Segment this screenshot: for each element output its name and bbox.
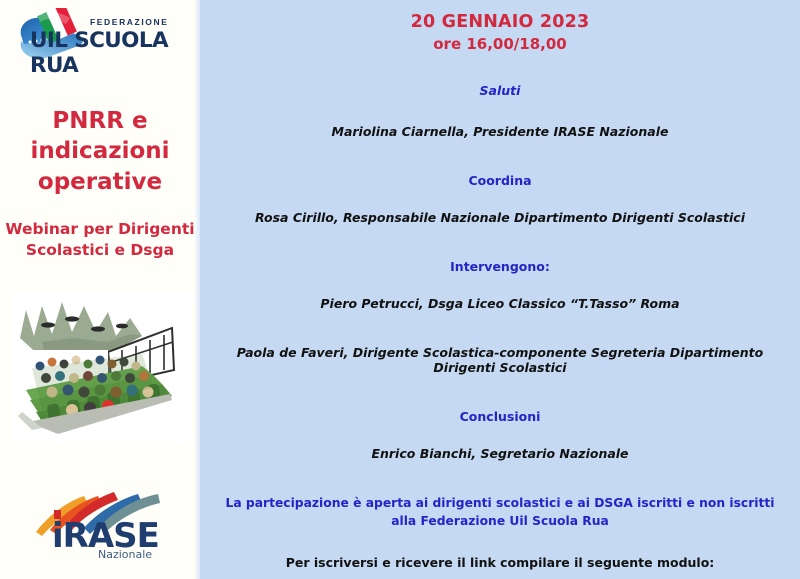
speaker-conclusioni: Enrico Bianchi, Segretario Nazionale [214, 446, 786, 461]
irase-nazionale-label: Nazionale [98, 548, 152, 561]
section-heading-saluti: Saluti [214, 83, 786, 98]
uil-name-label: UIL SCUOLA RUA [30, 28, 192, 78]
event-time: ore 16,00/18,00 [214, 35, 786, 53]
program-content: 20 GENNAIO 2023 ore 16,00/18,00 Saluti M… [200, 0, 800, 579]
auditorium-audience-icon [12, 292, 190, 442]
registration-note: Per iscriversi e ricevere il link compil… [214, 555, 786, 570]
uil-federazione-label: FEDERAZIONE [90, 17, 169, 27]
irase-nazionale-logo: iRASE Nazionale [30, 476, 180, 571]
poster-subtitle: Webinar per Dirigenti Scolastici e Dsga [0, 219, 200, 262]
section-heading-coordina: Coordina [214, 173, 786, 188]
participation-note: La partecipazione è aperta ai dirigenti … [214, 495, 786, 529]
uil-scuola-rua-logo: FEDERAZIONE UIL SCUOLA RUA [8, 8, 192, 68]
webinar-poster: FEDERAZIONE UIL SCUOLA RUA PNRR e indica… [0, 0, 800, 579]
speaker-coordina: Rosa Cirillo, Responsabile Nazionale Dip… [214, 210, 786, 225]
section-heading-conclusioni: Conclusioni [214, 409, 786, 424]
left-panel: FEDERAZIONE UIL SCUOLA RUA PNRR e indica… [0, 0, 200, 579]
speaker-intervengono-1: Piero Petrucci, Dsga Liceo Classico “T.T… [214, 296, 786, 311]
auditorium-illustration [12, 292, 190, 442]
right-panel: 20 GENNAIO 2023 ore 16,00/18,00 Saluti M… [200, 0, 800, 579]
section-heading-intervengono: Intervengono: [214, 259, 786, 274]
speaker-intervengono-2: Paola de Faveri, Dirigente Scolastica-co… [214, 345, 786, 375]
title-block: PNRR e indicazioni operative Webinar per… [0, 106, 200, 262]
poster-title: PNRR e indicazioni operative [0, 106, 200, 197]
speaker-saluti: Mariolina Ciarnella, Presidente IRASE Na… [214, 124, 786, 139]
event-date: 20 GENNAIO 2023 [214, 11, 786, 33]
